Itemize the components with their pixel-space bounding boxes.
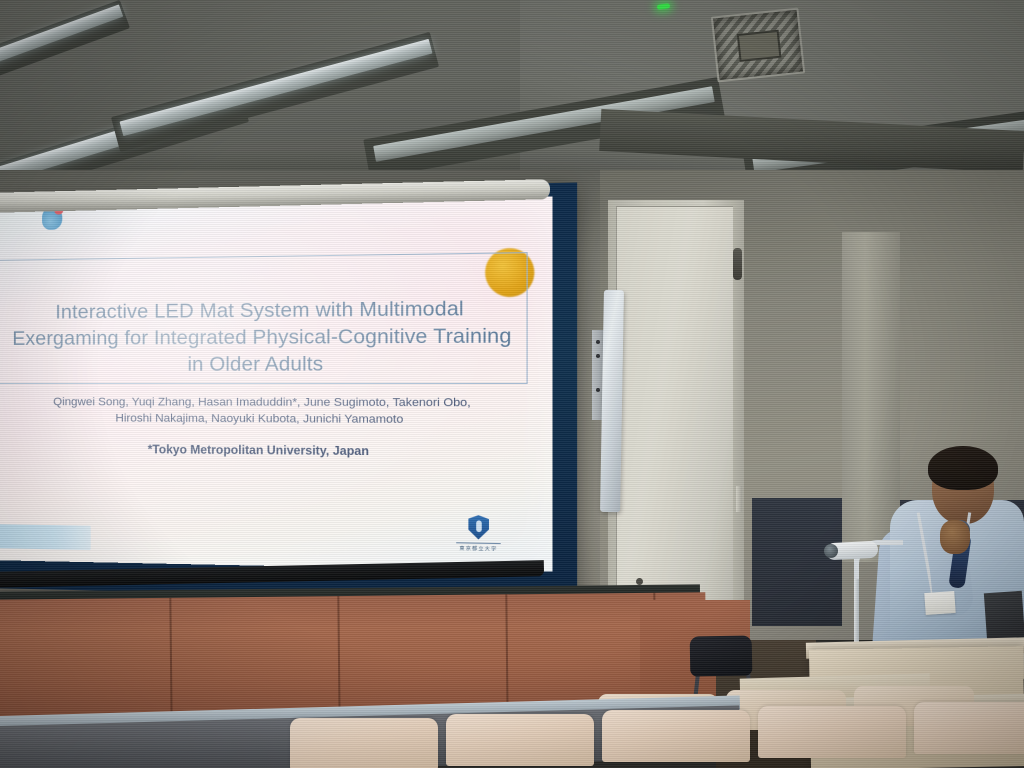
slide-title-line-1: Interactive LED Mat System with Multimod… — [2, 295, 523, 326]
panel-button[interactable] — [596, 354, 600, 358]
camera-lens-icon — [824, 544, 838, 558]
presenter-hand — [940, 520, 970, 554]
slide-title: Interactive LED Mat System with Multimod… — [2, 295, 523, 378]
diffuser-core — [737, 30, 782, 62]
presentation-slide: Interactive LED Mat System with Multimod… — [0, 196, 552, 571]
slide-authors: Qingwei Song, Yuqi Zhang, Hasan Imaduddi… — [0, 394, 537, 429]
name-badge — [924, 591, 955, 615]
door-hinge-icon — [736, 486, 742, 512]
hvac-diffuser-icon — [711, 8, 805, 83]
panel-button[interactable] — [596, 340, 600, 344]
auditorium-seat[interactable] — [914, 702, 1024, 754]
logo-divider — [456, 542, 501, 544]
slide-authors-line-1: Qingwei Song, Yuqi Zhang, Hasan Imaduddi… — [0, 394, 537, 412]
university-logo: 東京都立大学 — [452, 515, 505, 558]
wall-dark-panel — [752, 498, 842, 626]
slide-title-line-2: Exergaming for Integrated Physical-Cogni… — [2, 322, 523, 352]
lab-logo-banner: Lab — [0, 524, 91, 550]
presenter-hair — [928, 446, 998, 490]
auditorium-seat[interactable] — [446, 714, 594, 766]
shield-icon — [468, 515, 489, 540]
slide-title-line-3: in Older Adults — [2, 350, 523, 378]
wall-speaker-icon — [600, 290, 624, 512]
door-closer-icon — [733, 248, 742, 280]
folding-chair[interactable] — [690, 635, 753, 676]
auditorium-seat[interactable] — [758, 706, 906, 758]
wall-pillar — [842, 232, 900, 562]
door[interactable] — [616, 206, 733, 619]
auditorium-seat[interactable] — [602, 710, 750, 762]
university-name-label: 東京都立大学 — [452, 545, 505, 552]
slide-authors-line-2: Hiroshi Nakajima, Naoyuki Kubota, Junich… — [0, 410, 537, 429]
slide-affiliation: *Tokyo Metropolitan University, Japan — [0, 442, 537, 460]
panel-seam — [169, 598, 172, 728]
panel-button[interactable] — [596, 388, 600, 392]
auditorium-seat[interactable] — [290, 718, 438, 768]
presentation-photo-scene: Interactive LED Mat System with Multimod… — [0, 0, 1024, 768]
